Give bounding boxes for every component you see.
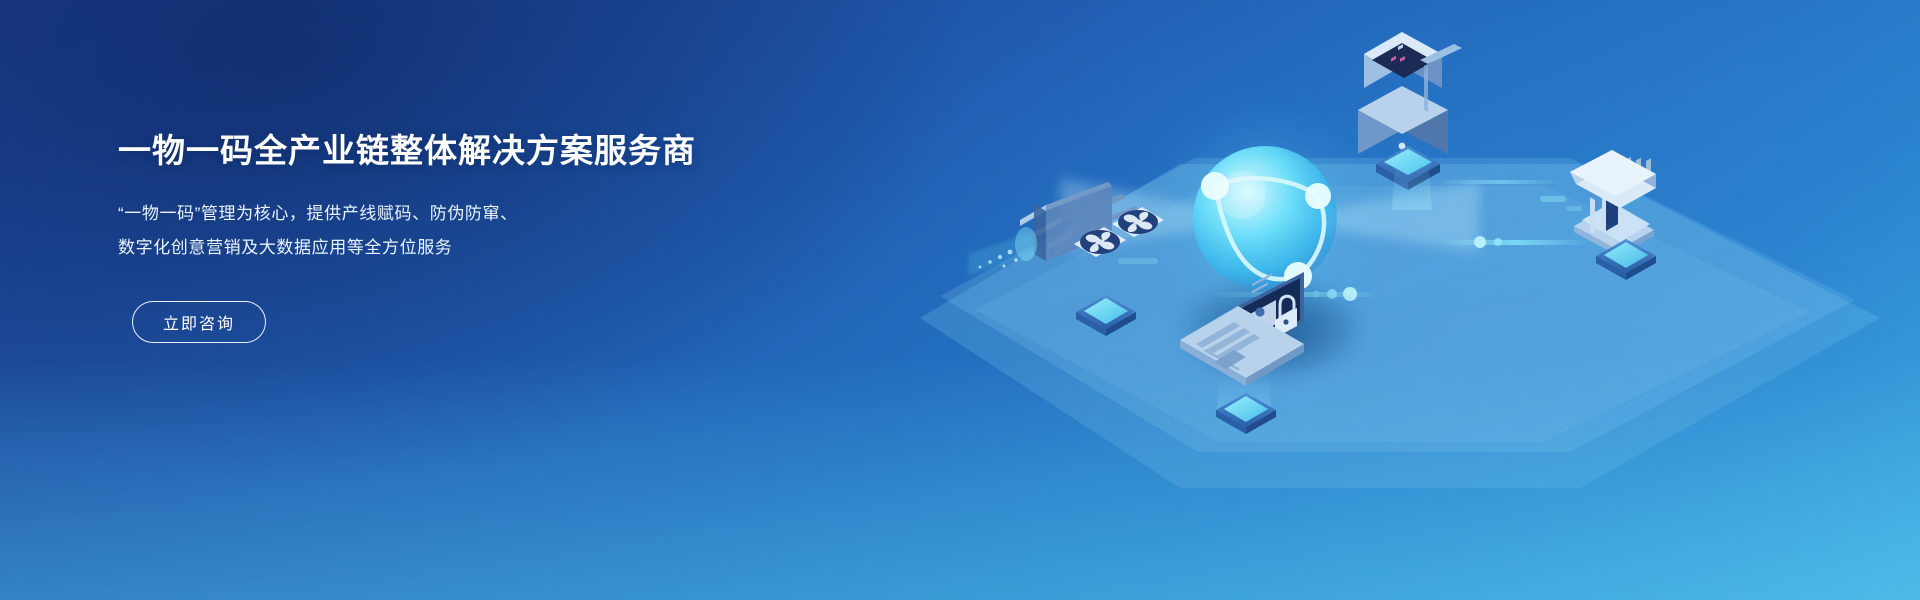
hero-content: 一物一码全产业链整体解决方案服务商 “一物一码”管理为核心，提供产线赋码、防伪防… (118, 130, 818, 343)
subtitle-line-2: 数字化创意营销及大数据应用等全方位服务 (118, 231, 818, 265)
pos-terminal-icon (1358, 32, 1462, 154)
consult-now-button[interactable]: 立即咨询 (132, 301, 266, 343)
subtitle-line-1: “一物一码”管理为核心，提供产线赋码、防伪防窜、 (118, 197, 818, 231)
hero-banner: 一物一码全产业链整体解决方案服务商 “一物一码”管理为核心，提供产线赋码、防伪防… (0, 0, 1920, 600)
page-title: 一物一码全产业链整体解决方案服务商 (118, 130, 818, 171)
hero-illustration (880, 0, 1920, 600)
network-sphere-icon (1193, 146, 1337, 290)
